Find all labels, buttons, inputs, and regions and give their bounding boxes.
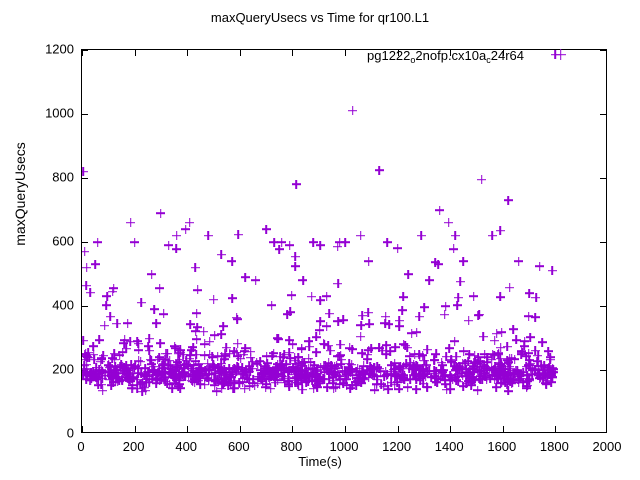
data-point [503,342,512,351]
data-point [410,371,419,380]
data-point [193,323,202,332]
data-point [155,284,164,293]
data-point [376,367,385,376]
data-point [171,366,180,375]
data-point [297,376,306,385]
data-point [160,368,169,377]
chart-legend: pg1222o2nofp.cx10ac24r64 [300,44,600,66]
y-tick [600,242,606,243]
data-point [507,354,516,363]
data-point [290,370,299,379]
data-point [231,365,240,374]
x-tick-label: 1400 [435,439,464,454]
data-point [242,367,251,376]
data-point [175,376,184,385]
data-point [320,368,329,377]
data-point [236,354,245,363]
data-point [485,366,494,375]
data-point [422,360,431,369]
data-point [430,355,439,364]
data-point [297,367,306,376]
data-point [420,303,429,312]
data-point [89,342,98,351]
data-point [459,382,468,391]
data-point [202,370,211,379]
data-point [102,292,111,301]
data-point [113,377,122,386]
data-point [488,350,497,359]
data-point [147,356,156,365]
data-point [310,361,319,370]
data-point [217,366,226,375]
data-point [215,369,224,378]
data-point [458,371,467,380]
data-point [218,379,227,388]
data-point [463,368,472,377]
data-point [275,245,284,254]
data-point [86,370,95,379]
data-point [538,373,547,382]
data-point [112,374,121,383]
data-point [358,369,367,378]
data-point [171,344,180,353]
data-point [262,352,271,361]
data-point [172,371,181,380]
data-point [241,273,250,282]
data-point [501,378,510,387]
data-point [273,360,282,369]
data-point [483,353,492,362]
data-point [509,369,518,378]
data-point [415,365,424,374]
data-point [157,371,166,380]
data-point [163,379,172,388]
data-point [492,383,501,392]
x-tick [292,426,293,432]
data-point [523,371,532,380]
data-point [122,373,131,382]
data-point [209,295,218,304]
data-point [514,257,523,266]
data-point [399,340,408,349]
x-tick [135,426,136,432]
data-point [216,367,225,376]
data-point [448,375,457,384]
data-point [174,382,183,391]
data-point [212,375,221,384]
data-point [330,362,339,371]
data-point [505,283,514,292]
data-point [452,352,461,361]
data-point [286,354,295,363]
data-point [126,377,135,386]
data-point [327,361,336,370]
data-point [171,370,180,379]
data-point [272,364,281,373]
data-point [396,362,405,371]
data-point [125,375,134,384]
data-point [204,376,213,385]
data-point [269,369,278,378]
data-point [262,380,271,389]
data-point [496,378,505,387]
data-point [165,364,174,373]
data-point [250,381,259,390]
data-point [298,365,307,374]
data-point [137,379,146,388]
data-point [105,367,114,376]
data-point [149,366,158,375]
data-point [222,343,231,352]
data-point [395,322,404,331]
data-point [469,368,478,377]
data-point [468,364,477,373]
data-point [316,372,325,381]
data-point [223,381,232,390]
data-point [441,370,450,379]
data-point [238,363,247,372]
data-point [259,370,268,379]
data-point [440,371,449,380]
data-point [297,359,306,368]
data-point [545,361,554,370]
data-point [211,377,220,386]
data-point [301,370,310,379]
data-point [190,374,199,383]
data-point [422,382,431,391]
data-point [119,363,128,372]
data-point [441,302,450,311]
data-point [96,357,105,366]
data-point [452,376,461,385]
data-point [497,378,506,387]
data-point [370,385,379,394]
data-point [210,381,219,390]
data-point [373,362,382,371]
data-point [81,370,88,379]
data-point [329,376,338,385]
data-point [328,379,337,388]
data-point [366,369,375,378]
data-point [488,231,497,240]
data-point [266,384,275,393]
data-point [226,379,235,388]
data-point [311,372,320,381]
data-point [283,310,292,319]
data-point [172,231,181,240]
data-point [201,371,210,380]
data-point [279,365,288,374]
data-point [179,372,188,381]
data-point [264,373,273,382]
data-point [95,369,104,378]
data-point [387,378,396,387]
data-point [189,366,198,375]
legend-entry-label: pg1222o2nofp.cx10ac24r64 [367,48,554,63]
data-point [335,380,344,389]
data-point [217,330,226,339]
data-point [497,359,506,368]
data-point [522,382,531,391]
data-point [234,365,243,374]
data-point [323,363,332,372]
data-point [302,372,311,381]
data-point [152,376,161,385]
data-point [175,380,184,389]
y-tick-label: 800 [30,170,74,185]
data-point [115,376,124,385]
data-point [406,358,415,367]
data-point [267,372,276,381]
data-point [141,364,150,373]
chart-canvas: maxQueryUsecs vs Time for qr100.L1 maxQu… [0,0,640,480]
data-point [488,371,497,380]
data-point [432,378,441,387]
data-point [501,371,510,380]
data-point [277,366,286,375]
data-point [389,365,398,374]
data-point [176,345,185,354]
data-point [336,351,345,360]
data-point [475,374,484,383]
data-point [338,366,347,375]
data-point [212,387,221,396]
data-point [294,374,303,383]
data-point [534,370,543,379]
data-point [333,352,342,361]
data-point [478,375,487,384]
data-point [469,362,478,371]
data-point [479,370,488,379]
data-point [494,349,503,358]
data-point [411,370,420,379]
data-point [89,350,98,359]
data-point [356,321,365,330]
x-tick [240,426,241,432]
data-point [407,329,416,338]
data-point [539,365,548,374]
data-point [368,365,377,374]
data-point [534,369,543,378]
data-point [533,357,542,366]
data-point [270,368,279,377]
legend-subscript-c: c [486,55,491,65]
data-point [403,343,412,352]
data-point [270,375,279,384]
data-point [328,373,337,382]
data-point [331,383,340,392]
data-point [374,343,383,352]
data-point [174,349,183,358]
data-point [220,368,229,377]
data-point [200,351,209,360]
data-point [104,361,113,370]
data-point [410,363,419,372]
data-point [520,337,529,346]
data-point [531,346,540,355]
data-point [178,369,187,378]
data-point [161,377,170,386]
data-point [209,375,218,384]
data-point [246,347,255,356]
data-point [394,384,403,393]
data-point [406,361,415,370]
data-point [454,293,463,302]
data-point [125,372,134,381]
data-point [504,358,513,367]
data-point [465,370,474,379]
data-point [364,346,373,355]
data-point [161,367,170,376]
data-point [165,380,174,389]
data-point [476,357,485,366]
data-point [391,343,400,352]
data-point [141,386,150,395]
data-point [184,371,193,380]
data-point [160,355,169,364]
data-point [279,374,288,383]
data-point [416,374,425,383]
data-point [311,377,320,386]
data-point [257,374,266,383]
legend-plus-icon [554,48,568,62]
data-point [208,352,217,361]
data-point [450,337,459,346]
data-point [82,360,91,369]
data-point [144,367,153,376]
data-point [432,374,441,383]
data-point [327,362,336,371]
data-point [232,313,241,322]
data-point [239,350,248,359]
data-point [296,367,305,376]
data-point [176,361,185,370]
data-point [355,367,364,376]
data-point [230,364,239,373]
data-point [302,365,311,374]
data-point [220,370,229,379]
data-point [245,367,254,376]
data-point [288,340,297,349]
data-point [267,372,276,381]
data-point [94,380,103,389]
data-point [467,374,476,383]
data-point [420,370,429,379]
data-point [240,367,249,376]
data-point [160,374,169,383]
data-point [298,358,307,367]
data-point [224,378,233,387]
data-point [536,373,545,382]
data-point [256,366,265,375]
data-point [149,368,158,377]
data-point [81,350,89,359]
data-point [415,350,424,359]
data-point [491,368,500,377]
y-tick [600,114,606,115]
data-point [134,369,143,378]
data-point [294,364,303,373]
data-point [280,378,289,387]
data-point [161,349,170,358]
data-point [277,361,286,370]
data-point [383,370,392,379]
data-point [291,378,300,387]
data-point [300,358,309,367]
legend-prefix: pg1222 [367,48,410,63]
data-point [191,263,200,272]
data-point [348,371,357,380]
data-point [321,361,330,370]
data-point [435,206,444,215]
data-point [82,281,91,290]
data-point [329,370,338,379]
data-point [449,244,458,253]
data-point [192,368,201,377]
data-point [260,368,269,377]
data-point [161,373,170,382]
data-point [355,373,364,382]
data-point [528,366,537,375]
data-point [336,360,345,369]
data-point [401,341,410,350]
data-point [196,372,205,381]
data-point [315,373,324,382]
data-point [168,368,177,377]
x-tick [187,50,188,56]
data-point [346,365,355,374]
data-point [93,238,102,247]
data-point [167,365,176,374]
data-point [439,366,448,375]
data-point [211,376,220,385]
data-point [160,364,169,373]
x-tick [240,50,241,56]
data-point [211,369,220,378]
data-point [224,379,233,388]
data-point [325,374,334,383]
data-point [382,350,391,359]
data-point [128,381,137,390]
data-point [333,242,342,251]
data-point [405,364,414,373]
data-point [84,348,93,357]
data-point [179,350,188,359]
data-point [436,366,445,375]
data-point [363,350,372,359]
data-point [120,335,129,344]
data-point [390,380,399,389]
data-point [227,257,236,266]
data-point [495,370,504,379]
data-point [515,372,524,381]
data-point [335,238,344,247]
data-point [156,209,165,218]
data-point [375,364,384,373]
data-point [499,374,508,383]
data-point [118,369,127,378]
data-point [340,367,349,376]
data-point [514,378,523,387]
data-point [355,371,364,380]
data-point [282,360,291,369]
data-point [525,375,534,384]
data-point [186,320,195,329]
data-point [412,385,421,394]
x-tick [345,426,346,432]
data-point [147,270,156,279]
data-point [126,337,135,346]
